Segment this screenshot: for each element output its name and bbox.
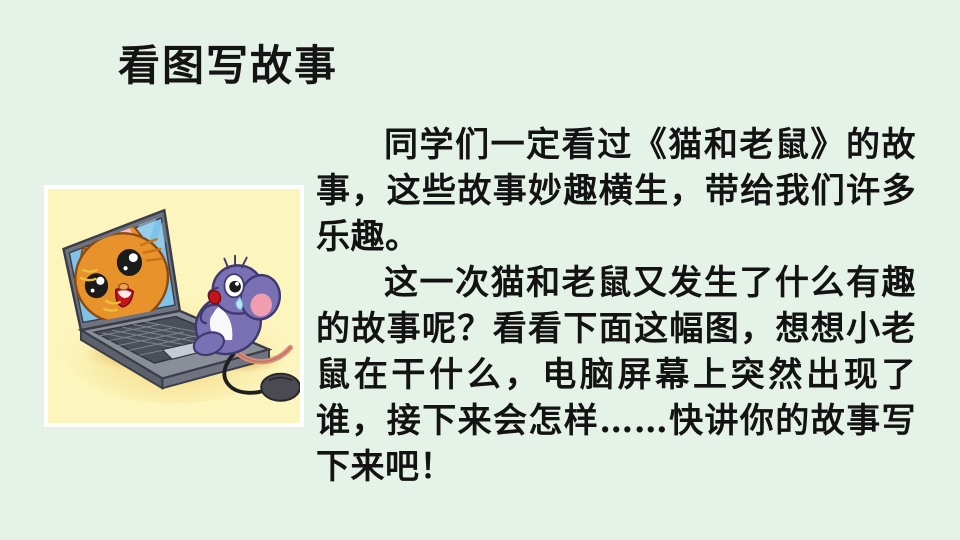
- paragraph-2: 这一次猫和老鼠又发生了什么有趣的故事呢？看看下面这幅图，想想小老鼠在干什么，电脑…: [316, 260, 916, 490]
- illustration-image: [48, 189, 300, 423]
- cat-eye-left: [85, 273, 108, 298]
- slide: 看图写故事: [0, 0, 960, 540]
- cat-nose: [119, 283, 129, 290]
- cat-eye-right: [117, 249, 142, 276]
- page-title: 看图写故事: [118, 42, 338, 90]
- illustration-panel: [44, 185, 304, 427]
- cartoon-cat-and-mouse-illustration: [48, 189, 300, 423]
- body-text: 同学们一定看过《猫和老鼠》的故事，这些故事妙趣横生，带给我们许多乐趣。 这一次猫…: [316, 122, 916, 490]
- paragraph-1: 同学们一定看过《猫和老鼠》的故事，这些故事妙趣横生，带给我们许多乐趣。: [316, 122, 916, 260]
